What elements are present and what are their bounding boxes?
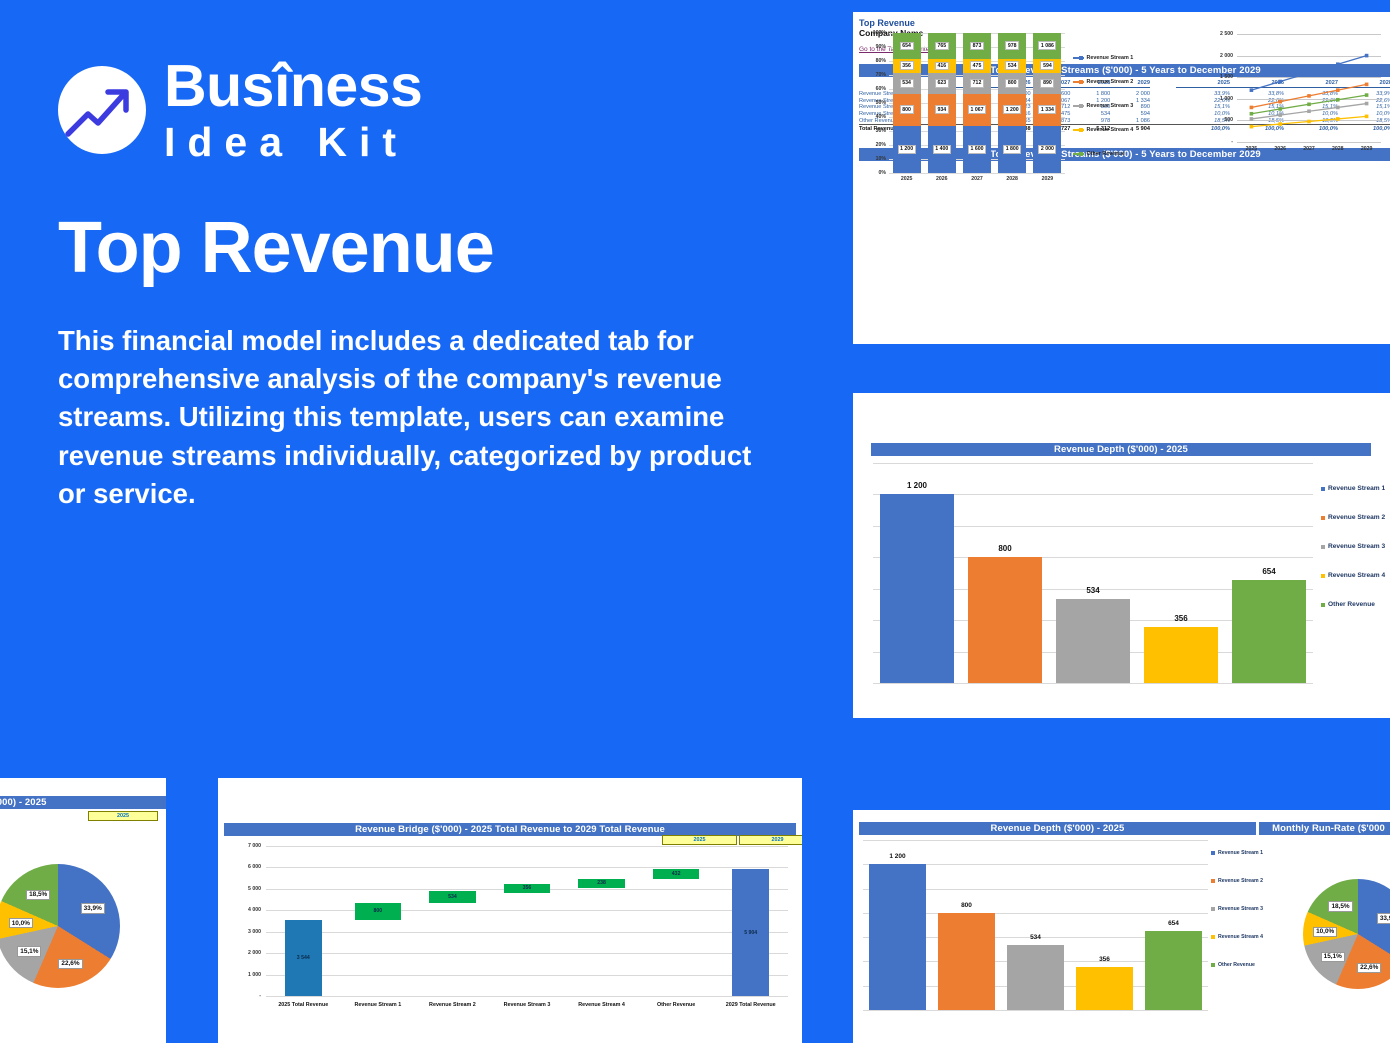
legend-item: Revenue Stream 1 [1211, 850, 1263, 856]
stack-segment: 475 [963, 59, 991, 73]
x-axis-tick: 2029 [1352, 146, 1381, 152]
brand-name-line2: Idea Kit [164, 122, 422, 163]
legend-label: Revenue Stream 2 [1328, 514, 1385, 521]
bar [1145, 931, 1203, 1010]
legend-item: Other Revenue [1073, 151, 1125, 157]
growth-arrow-icon [58, 66, 146, 154]
y-axis-tick: - [232, 993, 261, 999]
segment-value: 800 [1005, 79, 1019, 88]
bar [938, 913, 996, 1010]
y-axis-tick: 80% [869, 58, 886, 64]
legend-label: Revenue Stream 3 [1087, 103, 1134, 109]
bar-value-label: 654 [1225, 567, 1313, 576]
legend-label: Revenue Stream 4 [1087, 127, 1134, 133]
legend-label: Revenue Stream 1 [1087, 55, 1134, 61]
waterfall-bar: 432 [653, 869, 699, 878]
panel-top-revenue-sheet: Top Revenue Company Name Go to the Table… [853, 12, 1390, 344]
brand-lockup: Busîness Idea Kit [58, 57, 422, 163]
legend-label: Revenue Stream 2 [1218, 878, 1263, 884]
stack-segment: 594 [1033, 59, 1061, 73]
legend-swatch [1321, 487, 1325, 491]
stack-segment: 1 600 [963, 126, 991, 173]
bar [880, 494, 954, 683]
legend-item: Revenue Stream 2 [1211, 878, 1263, 884]
x-axis-tick: 2028 [1323, 146, 1352, 152]
legend-marker [1079, 80, 1083, 84]
bar [968, 557, 1042, 683]
gridline [889, 173, 1065, 174]
legend-swatch [1321, 516, 1325, 520]
waterfall-bar: 800 [355, 903, 401, 920]
stack-segment: 1 067 [963, 94, 991, 126]
y-axis-tick: 3 000 [232, 929, 261, 935]
y-axis-tick: 90% [869, 44, 886, 50]
legend-item: Revenue Stream 2 [1073, 79, 1133, 85]
stack-segment: 1 400 [928, 126, 956, 173]
waterfall-bar: 3 544 [285, 920, 322, 996]
stack-segment: 534 [893, 73, 921, 94]
stack-segment: 712 [963, 73, 991, 94]
x-axis-tick: Other Revenue [639, 1002, 714, 1008]
stack-segment: 1 200 [998, 94, 1026, 126]
segment-value: 475 [970, 61, 984, 70]
bar-value-label: 800 [961, 544, 1049, 553]
bar-value-label: 534 [1001, 934, 1070, 941]
x-axis-tick: 2026 [1266, 146, 1295, 152]
cell-value: 534 [1070, 111, 1110, 118]
bar [1232, 580, 1306, 683]
legend-item: Revenue Stream 3 [1211, 906, 1263, 912]
segment-value: 890 [1040, 79, 1054, 88]
pie-data-label: 33,9% [1377, 913, 1390, 923]
pie-data-label: 33,9% [81, 903, 105, 913]
x-axis-tick: 2027 [959, 176, 994, 182]
sheet-title: Top Revenue [859, 18, 938, 28]
legend-marker [1079, 128, 1083, 132]
panel-monthly-run-rate-left: Run-Rate ($'000) - 2025 2025 33,9%22,6%1… [0, 778, 166, 1043]
line-series-group [1145, 30, 1385, 178]
y-axis-tick: 20% [869, 142, 886, 148]
brand-name-line1: Busîness [164, 57, 422, 116]
stack-segment: 934 [928, 94, 956, 126]
x-axis-tick: 2025 [1237, 146, 1266, 152]
waterfall-value-label: 432 [672, 871, 681, 877]
waterfall-bar: 238 [578, 879, 624, 888]
legend-swatch [1211, 879, 1215, 883]
legend-item: Revenue Stream 2 [1321, 514, 1385, 521]
stack-segment: 534 [998, 59, 1026, 73]
legend-item: Revenue Stream 4 [1321, 572, 1385, 579]
y-axis-tick: 0% [869, 170, 886, 176]
bar-value-label: 356 [1070, 956, 1139, 963]
segment-value: 1 086 [1038, 41, 1056, 50]
chart-title-band-right: Monthly Run-Rate ($'000 [1259, 822, 1390, 835]
cell-value: 978 [1070, 118, 1110, 125]
gridline [266, 953, 788, 954]
y-axis-tick: 100% [869, 30, 886, 36]
gridline [266, 932, 788, 933]
bar-value-label: 1 200 [863, 853, 932, 860]
segment-value: 356 [900, 61, 914, 70]
stacked-column: 9785348001 2001 800 [998, 33, 1026, 173]
page-description: This financial model includes a dedicate… [58, 322, 758, 513]
segment-value: 1 200 [1003, 105, 1021, 114]
x-axis-tick: 2027 [1295, 146, 1324, 152]
chart-revenue-trend-line: -5001 0001 5002 0002 5002025202620272028… [1145, 30, 1385, 178]
to-year-input-cell[interactable]: 2029 [739, 835, 802, 845]
cell-value: 1 800 [1070, 90, 1110, 97]
waterfall-value-label: 3 544 [297, 955, 310, 961]
legend-item: Revenue Stream 1 [1073, 55, 1133, 61]
waterfall-value-label: 534 [448, 894, 457, 900]
panel-revenue-bridge: Revenue Bridge ($'000) - 2025 Total Reve… [218, 778, 802, 1043]
chart-revenue-depth-main: 1 200800534356654 [873, 463, 1313, 683]
stack-segment: 1 800 [998, 126, 1026, 173]
legend-item: Revenue Stream 4 [1073, 127, 1133, 133]
bar-value-label: 1 200 [873, 481, 961, 490]
x-axis-tick: 2025 [889, 176, 924, 182]
waterfall-value-label: 800 [374, 908, 383, 914]
stack-segment: 416 [928, 59, 956, 73]
stack-segment: 1 334 [1033, 94, 1061, 126]
bar-value-label: 534 [1049, 586, 1137, 595]
waterfall-value-label: 238 [597, 880, 606, 886]
segment-value: 654 [900, 42, 914, 51]
y-axis-tick: 70% [869, 72, 886, 78]
legend-item: Other Revenue [1211, 962, 1255, 968]
segment-value: 594 [1040, 61, 1054, 70]
cell-value: 1 086 [1110, 118, 1150, 125]
legend-swatch [1211, 935, 1215, 939]
stack-segment: 1 200 [893, 126, 921, 173]
stack-segment: 2 000 [1033, 126, 1061, 173]
legend-swatch [1211, 907, 1215, 911]
legend-item: Revenue Stream 3 [1073, 103, 1133, 109]
y-axis-tick: 2 000 [232, 950, 261, 956]
stack-segment: 800 [998, 73, 1026, 94]
pie-data-label: 10,0% [1313, 927, 1337, 937]
legend-item: Other Revenue [1321, 601, 1375, 608]
gridline [266, 867, 788, 868]
x-axis-tick: 2026 [924, 176, 959, 182]
legend-marker [1079, 56, 1083, 60]
legend-swatch [1211, 851, 1215, 855]
y-axis-tick: 40% [869, 114, 886, 120]
segment-value: 1 067 [968, 105, 986, 114]
logo-mark [58, 66, 146, 154]
cell-value: 594 [1110, 111, 1150, 118]
legend-label: Other Revenue [1218, 962, 1255, 968]
gridline [266, 910, 788, 911]
segment-value: 800 [900, 105, 914, 114]
y-axis-tick: 4 000 [232, 907, 261, 913]
legend-marker [1079, 152, 1083, 156]
segment-value: 873 [970, 42, 984, 51]
legend-marker [1079, 104, 1083, 108]
gridline [863, 840, 1208, 841]
y-axis-tick: 60% [869, 86, 886, 92]
segment-value: 1 400 [933, 145, 951, 154]
legend-item: Revenue Stream 3 [1321, 543, 1385, 550]
stacked-column: 8734757121 0671 600 [963, 33, 991, 173]
stacked-column: 1 0865948901 3342 000 [1033, 33, 1061, 173]
stacked-column: 7654166239341 400 [928, 33, 956, 173]
panel-bottom-right: Revenue Depth ($'000) - 2025 Monthly Run… [853, 810, 1390, 1043]
bar-value-label: 654 [1139, 920, 1208, 927]
cell-value: 2 000 [1110, 90, 1150, 97]
pie-data-label: 22,6% [1357, 963, 1381, 973]
legend-item: Revenue Stream 1 [1321, 485, 1385, 492]
x-axis-tick: Revenue Stream 4 [564, 1002, 639, 1008]
waterfall-value-label: 5 904 [744, 930, 757, 936]
legend-swatch [1321, 545, 1325, 549]
segment-value: 534 [1005, 61, 1019, 70]
x-axis-tick: Revenue Stream 3 [490, 1002, 565, 1008]
y-axis-tick: 50% [869, 100, 886, 106]
legend-label: Revenue Stream 4 [1328, 572, 1385, 579]
bar [1056, 599, 1130, 683]
legend-label: Revenue Stream 3 [1218, 906, 1263, 912]
segment-value: 2 000 [1038, 145, 1056, 154]
segment-value: 712 [970, 79, 984, 88]
pie-data-label: 15,1% [1321, 952, 1345, 962]
stack-segment: 765 [928, 33, 956, 59]
x-axis-tick: 2025 Total Revenue [266, 1002, 341, 1008]
from-year-input-cell[interactable]: 2025 [662, 835, 737, 845]
segment-value: 978 [1005, 41, 1019, 50]
pie-data-label: 18,5% [1328, 901, 1352, 911]
segment-value: 1 334 [1038, 105, 1056, 114]
stack-segment: 978 [998, 33, 1026, 59]
bar [1076, 967, 1134, 1010]
stack-segment: 873 [963, 33, 991, 59]
stack-segment: 800 [893, 94, 921, 126]
bar [1144, 627, 1218, 683]
pie-data-label: 22,6% [58, 959, 82, 969]
segment-value: 1 600 [968, 145, 986, 154]
y-axis-tick: 1 000 [232, 972, 261, 978]
segment-value: 934 [935, 105, 949, 114]
legend-label: Revenue Stream 1 [1218, 850, 1263, 856]
waterfall-bar: 5 904 [732, 869, 769, 996]
bar-value-label: 356 [1137, 614, 1225, 623]
legend-swatch [1211, 963, 1215, 967]
waterfall-bar: 534 [429, 891, 475, 902]
page-title: Top Revenue [58, 207, 494, 289]
gridline [266, 996, 788, 997]
legend-item: Revenue Stream 4 [1211, 934, 1263, 940]
y-axis-tick: 6 000 [232, 864, 261, 870]
chart-title-band: Revenue Depth ($'000) - 2025 [859, 822, 1256, 835]
segment-value: 623 [935, 79, 949, 88]
legend-label: Revenue Stream 1 [1328, 485, 1385, 492]
gridline [266, 846, 788, 847]
segment-value: 765 [935, 42, 949, 51]
legend-label: Revenue Stream 4 [1218, 934, 1263, 940]
x-axis-tick: Revenue Stream 2 [415, 1002, 490, 1008]
chart-title-band: Revenue Depth ($'000) - 2025 [871, 443, 1371, 456]
y-axis-tick: 10% [869, 156, 886, 162]
waterfall-bar: 356 [504, 884, 550, 893]
legend-label: Other Revenue [1328, 601, 1375, 608]
x-axis-tick: 2028 [995, 176, 1030, 182]
bar [1007, 945, 1065, 1010]
legend-swatch [1321, 603, 1325, 607]
stack-segment: 890 [1033, 73, 1061, 94]
chart-revenue-bridge-waterfall: -1 0002 0003 0004 0005 0006 0007 0003 54… [232, 846, 792, 1026]
x-axis-tick: 2029 Total Revenue [713, 1002, 788, 1008]
legend-label: Revenue Stream 3 [1328, 543, 1385, 550]
x-axis-tick: Revenue Stream 1 [341, 1002, 416, 1008]
bar-value-label: 800 [932, 902, 1001, 909]
legend-label: Revenue Stream 2 [1087, 79, 1134, 85]
stack-segment: 623 [928, 73, 956, 94]
segment-value: 1 200 [898, 145, 916, 154]
pie-data-label: 18,5% [26, 890, 50, 900]
gridline [266, 975, 788, 976]
segment-value: 416 [935, 62, 949, 71]
bar [869, 864, 927, 1010]
y-axis-tick: 7 000 [232, 843, 261, 849]
stack-segment: 356 [893, 59, 921, 73]
panel-revenue-depth: Revenue Depth ($'000) - 2025 1 200800534… [853, 393, 1390, 718]
pie-data-label: 15,1% [17, 946, 41, 956]
stack-segment: 1 086 [1033, 33, 1061, 59]
stack-segment: 654 [893, 33, 921, 59]
gridline [873, 463, 1313, 464]
segment-value: 1 800 [1003, 145, 1021, 154]
chart-title-band: Run-Rate ($'000) - 2025 [0, 796, 166, 809]
chart-revenue-depth-bottom: 1 200800534356654 [863, 840, 1208, 1010]
pie-data-label: 10,0% [9, 918, 33, 928]
year-input-cell[interactable]: 2025 [88, 811, 158, 821]
stacked-column: 6543565348001 200 [893, 33, 921, 173]
legend-swatch [1321, 574, 1325, 578]
y-axis-tick: 5 000 [232, 886, 261, 892]
x-axis-tick: 2029 [1030, 176, 1065, 182]
segment-value: 534 [900, 79, 914, 88]
gridline [873, 683, 1313, 684]
legend-label: Other Revenue [1087, 151, 1125, 157]
waterfall-value-label: 356 [523, 885, 532, 891]
gridline [863, 1010, 1208, 1011]
chart-stacked-100-column: 0%10%20%30%40%50%60%70%80%90%100%6543565… [869, 33, 1065, 173]
y-axis-tick: 30% [869, 128, 886, 134]
